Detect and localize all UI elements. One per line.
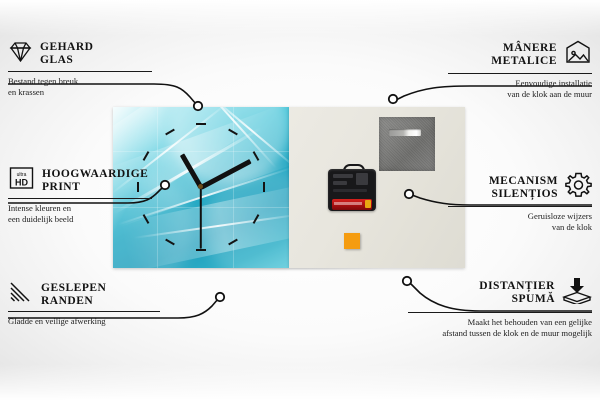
callout-title: GESLEPEN RANDEN bbox=[41, 282, 106, 308]
callout-hoogwaardige-print: ultra HD HOOGWAARDIGE PRINT Intense kleu… bbox=[8, 166, 152, 225]
callout-desc-line: een duidelijk beeld bbox=[8, 214, 152, 225]
callout-gehard-glas: GEHARD GLAS Bestand tegen breuk en krass… bbox=[8, 40, 152, 98]
callout-desc-line: Geruisloze wijzers bbox=[448, 211, 592, 222]
clock-tick bbox=[196, 123, 206, 125]
callout-title-line: SPUMĂ bbox=[479, 293, 555, 306]
clock-back-panel bbox=[289, 107, 465, 268]
callout-description: Eenvoudige installatie van de klok aan d… bbox=[448, 78, 592, 100]
glass-seam bbox=[157, 107, 158, 268]
callout-title-line: HOOGWAARDIGE bbox=[42, 168, 148, 181]
callout-distantier-spuma: DISTANȚIER SPUMĂ Maakt het behouden van … bbox=[408, 277, 592, 339]
foam-spacer bbox=[344, 233, 360, 249]
callout-desc-line: Eenvoudige installatie bbox=[448, 78, 592, 89]
callout-title-line: RANDEN bbox=[41, 295, 106, 308]
callout-divider bbox=[8, 71, 152, 72]
mechanism-detail bbox=[333, 181, 347, 185]
mechanism-body bbox=[328, 169, 376, 211]
clock-hub bbox=[198, 184, 203, 189]
callout-mecanism-silentios: MECANISM SILENȚIOS Geruisloze wijzers va… bbox=[448, 172, 592, 233]
spacer-arrow-icon bbox=[562, 277, 592, 309]
connector-dot-geslepen-randen bbox=[216, 293, 224, 301]
callout-header: MECANISM SILENȚIOS bbox=[448, 172, 592, 203]
clock-tick bbox=[263, 182, 265, 192]
callout-desc-line: afstand tussen de klok en de muur mogeli… bbox=[408, 328, 592, 339]
callout-description: Bestand tegen breuk en krassen bbox=[8, 76, 152, 98]
callout-desc-line: van de klok aan de muur bbox=[448, 89, 592, 100]
callout-desc-line: Bestand tegen breuk bbox=[8, 76, 152, 87]
callout-title: HOOGWAARDIGE PRINT bbox=[42, 168, 148, 194]
callout-title-line: MECANISM bbox=[489, 175, 558, 188]
battery-terminal bbox=[365, 200, 371, 208]
mechanism-detail bbox=[333, 189, 367, 192]
callout-title-line: METALICE bbox=[491, 55, 557, 68]
second-hand bbox=[200, 187, 202, 249]
callout-title: GEHARD GLAS bbox=[40, 41, 93, 67]
callout-header: MÂNERE METALICE bbox=[448, 40, 592, 70]
callout-divider bbox=[8, 198, 152, 199]
metal-hanger bbox=[379, 117, 435, 171]
callout-title-line: DISTANȚIER bbox=[479, 280, 555, 293]
callout-desc-line: Maakt het behouden van een gelijke bbox=[408, 317, 592, 328]
callout-header: DISTANȚIER SPUMĂ bbox=[408, 277, 592, 309]
hanger-slot bbox=[389, 129, 421, 136]
callout-title: MÂNERE METALICE bbox=[491, 42, 557, 68]
callout-desc-line: Gladde en veilige afwerking bbox=[8, 316, 160, 327]
callout-desc-line: en krassen bbox=[8, 87, 152, 98]
mechanism-detail bbox=[356, 173, 368, 185]
callout-header: GESLEPEN RANDEN bbox=[8, 281, 160, 308]
callout-title-line: PRINT bbox=[42, 181, 148, 194]
callout-geslepen-randen: GESLEPEN RANDEN Gladde en veilige afwerk… bbox=[8, 281, 160, 327]
ultra-hd-icon: ultra HD bbox=[8, 166, 35, 195]
connector-dot-manere-metalice bbox=[389, 95, 397, 103]
callout-description: Geruisloze wijzers van de klok bbox=[448, 211, 592, 233]
infographic-canvas: GEHARD GLAS Bestand tegen breuk en krass… bbox=[0, 0, 600, 400]
gear-icon bbox=[565, 172, 592, 203]
callout-divider bbox=[8, 311, 160, 312]
clock-tick bbox=[196, 249, 206, 251]
mechanism-detail bbox=[333, 174, 353, 178]
glass-seam bbox=[113, 151, 289, 152]
callout-divider bbox=[408, 312, 592, 313]
callout-title: DISTANȚIER SPUMĂ bbox=[479, 280, 555, 306]
callout-title: MECANISM SILENȚIOS bbox=[489, 175, 558, 201]
callout-desc-line: van de klok bbox=[448, 222, 592, 233]
diamond-icon bbox=[8, 40, 33, 68]
callout-title-line: SILENȚIOS bbox=[489, 188, 558, 201]
callout-title-line: GEHARD bbox=[40, 41, 93, 54]
battery-stripe bbox=[334, 202, 362, 205]
callout-description: Intense kleuren en een duidelijk beeld bbox=[8, 203, 152, 225]
callout-title-line: MÂNERE bbox=[491, 42, 557, 55]
callout-desc-line: Intense kleuren en bbox=[8, 203, 152, 214]
product-photo bbox=[113, 107, 465, 273]
callout-title-line: GESLEPEN bbox=[41, 282, 106, 295]
battery bbox=[332, 199, 372, 210]
clock-mechanism bbox=[328, 164, 376, 211]
callout-description: Gladde en veilige afwerking bbox=[8, 316, 160, 327]
picture-frame-icon bbox=[564, 40, 592, 70]
svg-text:HD: HD bbox=[15, 178, 28, 188]
beveled-edge-icon bbox=[8, 281, 34, 308]
callout-description: Maakt het behouden van een gelijke afsta… bbox=[408, 317, 592, 339]
callout-divider bbox=[448, 206, 592, 207]
callout-manere-metalice: MÂNERE METALICE Eenvoudige installatie v… bbox=[448, 40, 592, 100]
callout-header: ultra HD HOOGWAARDIGE PRINT bbox=[8, 166, 152, 195]
callout-header: GEHARD GLAS bbox=[8, 40, 152, 68]
callout-title-line: GLAS bbox=[40, 54, 93, 67]
callout-divider bbox=[448, 73, 592, 74]
